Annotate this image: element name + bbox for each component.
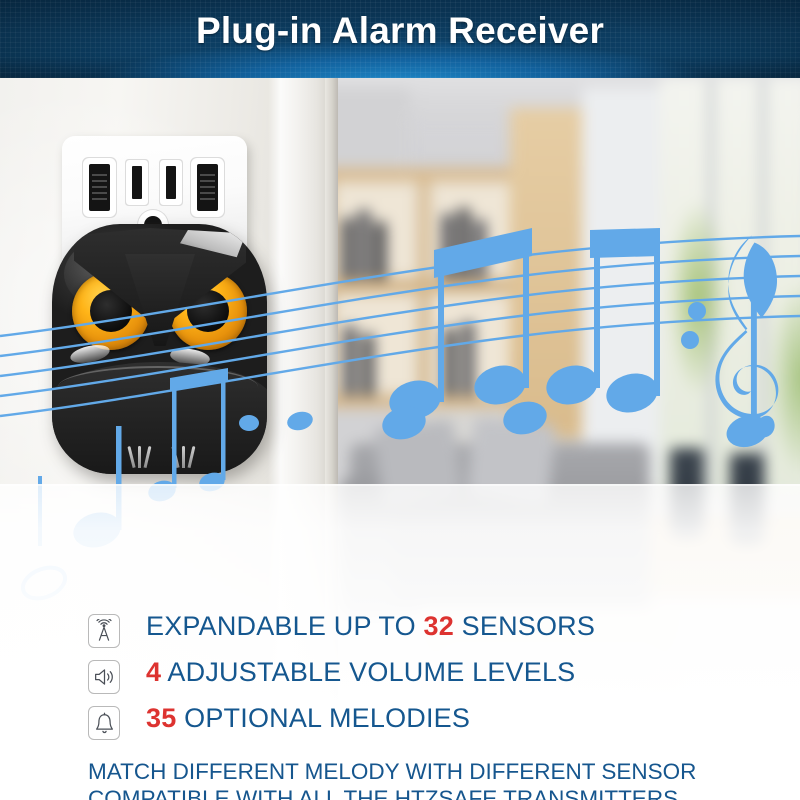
features-panel: EXPANDABLE UP TO 32 SENSORS 4 ADJUSTABLE…: [0, 486, 800, 800]
shelf-cell: [428, 180, 516, 280]
owl-body: [52, 224, 267, 474]
feature-text-volume: 4 ADJUSTABLE VOLUME LEVELS: [146, 657, 575, 688]
room-wall-white: [582, 88, 662, 488]
feature-text-sensors: EXPANDABLE UP TO 32 SENSORS: [146, 611, 595, 642]
footnote-line-2: COMPATIBLE WITH ALL THE HTZSAFE TRANSMIT…: [88, 785, 788, 800]
footnote-line-1: MATCH DIFFERENT MELODY WITH DIFFERENT SE…: [88, 758, 788, 785]
feature-row-melodies: 35 OPTIONAL MELODIES: [88, 703, 768, 749]
speaker-volume-icon: [88, 660, 120, 694]
product-infographic: Plug-in Alarm Receiver: [0, 0, 800, 800]
usb-port-left-icon: [89, 164, 110, 211]
ac-slot-right-icon: [166, 166, 176, 199]
feature-row-sensors: EXPANDABLE UP TO 32 SENSORS: [88, 611, 768, 657]
page-title: Plug-in Alarm Receiver: [0, 10, 800, 52]
header-banner: Plug-in Alarm Receiver: [0, 0, 800, 78]
owl-talon: [138, 446, 141, 468]
bell-icon: [88, 706, 120, 740]
room-door: [510, 108, 582, 438]
shelf-cell: [332, 180, 420, 280]
footnote-block: MATCH DIFFERENT MELODY WITH DIFFERENT SE…: [88, 758, 788, 800]
usb-port-right-icon: [197, 164, 218, 211]
plug-in-alarm-receiver[interactable]: [52, 136, 267, 481]
feature-row-volume: 4 ADJUSTABLE VOLUME LEVELS: [88, 657, 768, 703]
antenna-signal-icon: [88, 614, 120, 648]
owl-chest-highlight: [58, 366, 258, 408]
feature-text-melodies: 35 OPTIONAL MELODIES: [146, 703, 470, 734]
ac-slot-left-icon: [132, 166, 142, 199]
product-photo-area: EXPANDABLE UP TO 32 SENSORS 4 ADJUSTABLE…: [0, 78, 800, 800]
shelf-cell: [332, 292, 420, 396]
shelf-cell: [428, 292, 516, 396]
room-plant: [668, 198, 728, 398]
owl-talon: [182, 446, 185, 468]
room-greenery: [768, 278, 800, 478]
owl-eye-shine-left: [69, 342, 111, 366]
features-list: EXPANDABLE UP TO 32 SENSORS 4 ADJUSTABLE…: [88, 611, 768, 749]
